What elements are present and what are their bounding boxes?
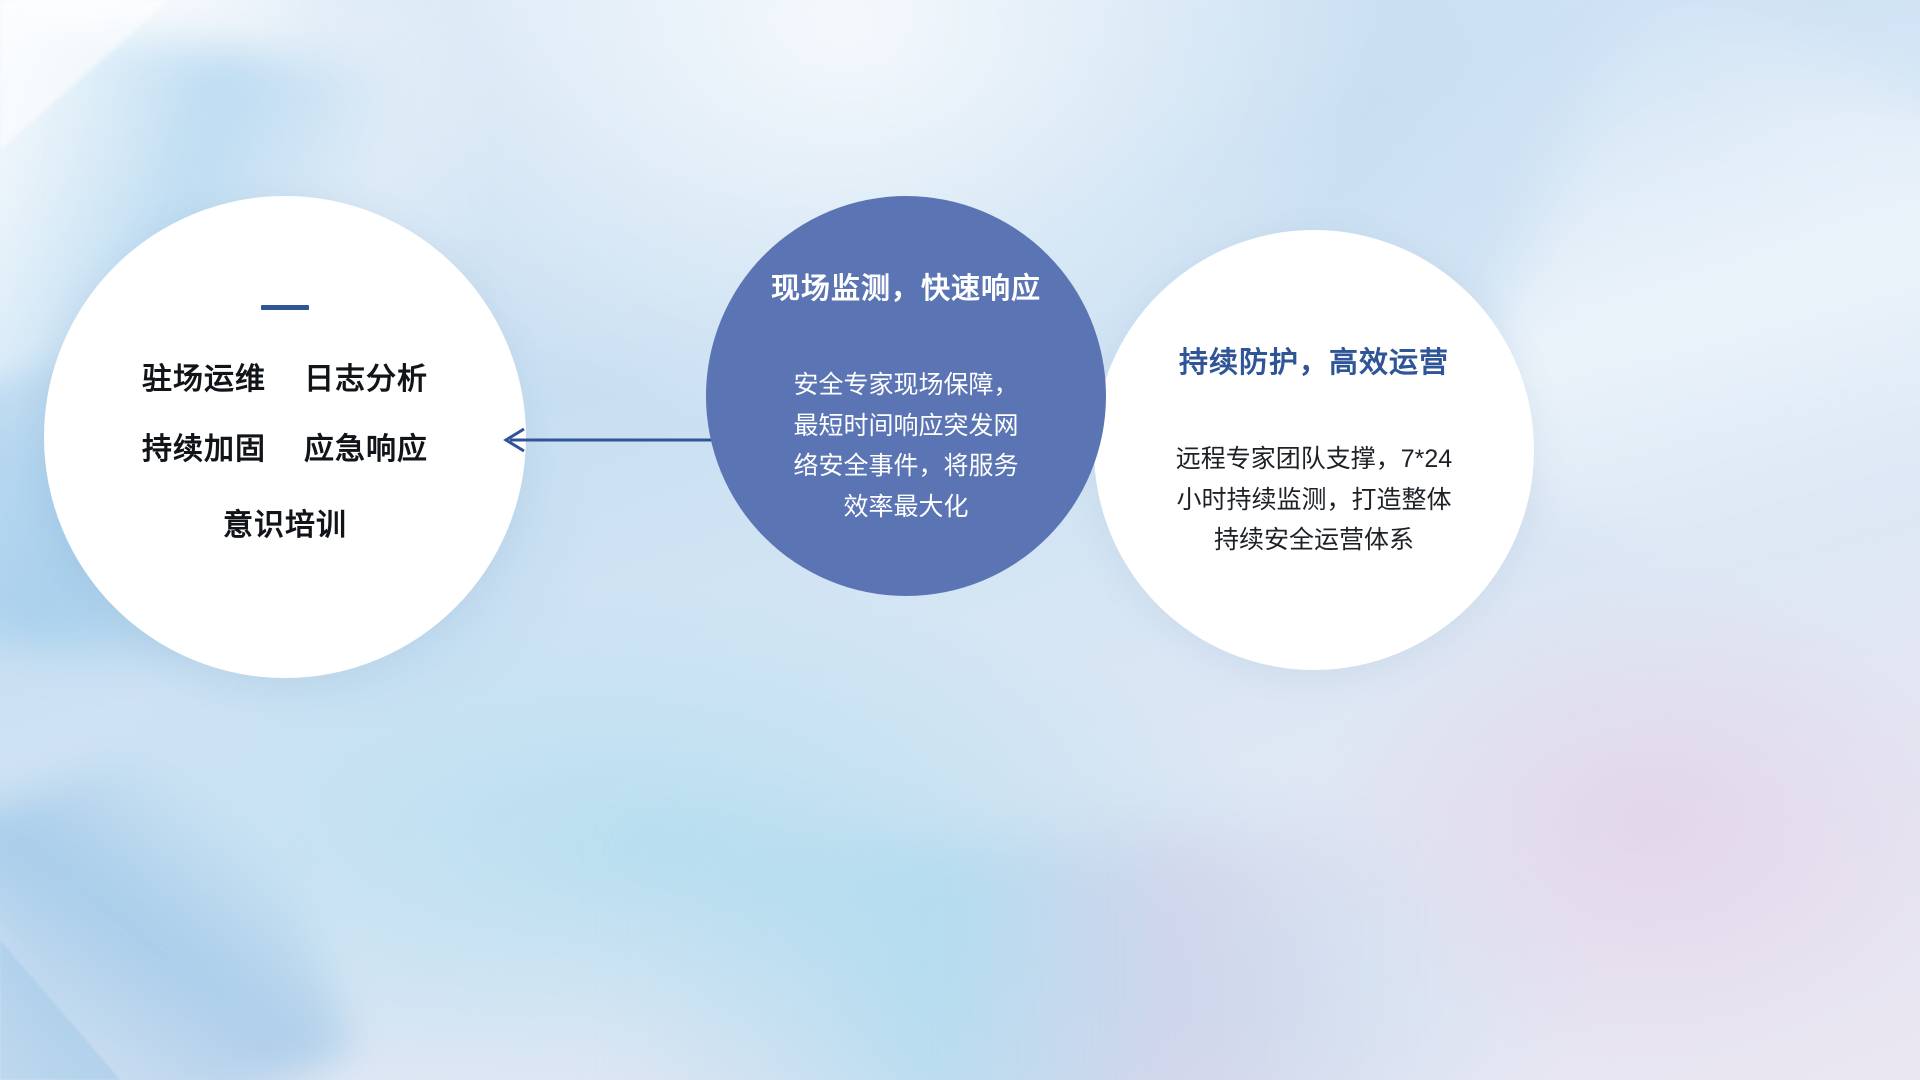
connector-arrow-left [494, 424, 714, 456]
body-line: 络安全事件，将服务 [793, 446, 1018, 487]
keyword-item: 意识培训 [223, 500, 347, 544]
background-corner-topleft [0, 0, 170, 150]
right-circle-title: 持续防护，高效运营 [1179, 339, 1449, 381]
keyword-row: 驻场运维 日志分析 [142, 354, 428, 398]
body-line: 安全专家现场保障， [793, 365, 1018, 406]
body-line: 小时持续监测，打造整体 [1176, 480, 1452, 521]
body-line: 远程专家团队支撑，7*24 [1176, 439, 1452, 480]
background-corner-bottomleft [0, 940, 120, 1080]
middle-circle-body: 安全专家现场保障， 最短时间响应突发网 络安全事件，将服务 效率最大化 [793, 365, 1018, 527]
slide-canvas: 驻场运维 日志分析 持续加固 应急响应 意识培训 持续防护，高效运营 远程专家团… [0, 0, 1920, 1080]
middle-circle-title: 现场监测，快速响应 [771, 265, 1041, 307]
middle-service-circle: 现场监测，快速响应 安全专家现场保障， 最短时间响应突发网 络安全事件，将服务 … [706, 196, 1106, 596]
keyword-row: 持续加固 应急响应 [142, 424, 428, 468]
right-service-circle: 持续防护，高效运营 远程专家团队支撑，7*24 小时持续监测，打造整体 持续安全… [1094, 230, 1534, 670]
background-streak-bottom [620, 840, 1400, 1080]
left-outcome-circle: 驻场运维 日志分析 持续加固 应急响应 意识培训 [44, 196, 526, 678]
body-line: 效率最大化 [793, 487, 1018, 528]
keyword-item: 应急响应 [304, 424, 428, 468]
keyword-item: 日志分析 [304, 354, 428, 398]
keyword-item: 驻场运维 [142, 354, 266, 398]
keyword-row: 意识培训 [223, 500, 347, 544]
body-line: 持续安全运营体系 [1176, 520, 1452, 561]
right-circle-body: 远程专家团队支撑，7*24 小时持续监测，打造整体 持续安全运营体系 [1176, 439, 1452, 561]
body-line: 最短时间响应突发网 [793, 406, 1018, 447]
divider-rule [261, 305, 309, 310]
keyword-item: 持续加固 [142, 424, 266, 468]
